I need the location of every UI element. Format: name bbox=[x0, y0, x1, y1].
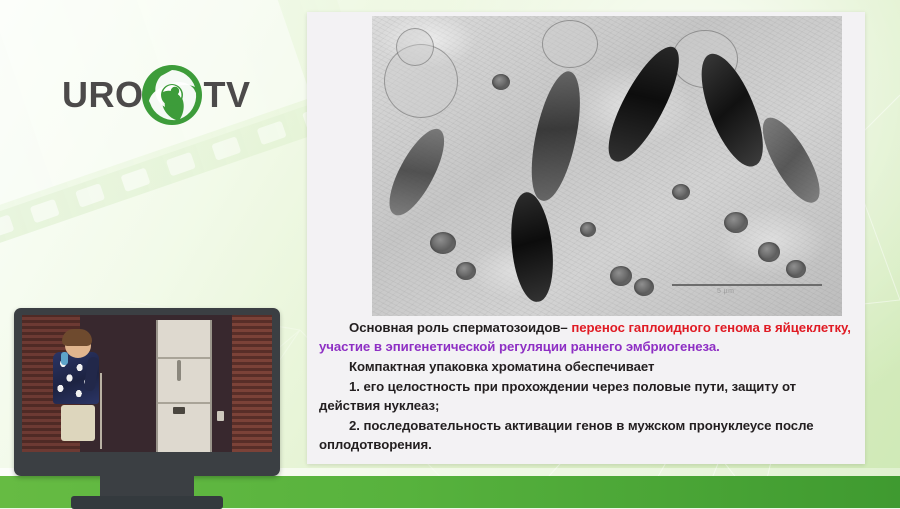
micrograph-vacuole bbox=[396, 28, 434, 66]
slide-paragraph-1: Основная роль сперматозоидов– перенос га… bbox=[319, 318, 853, 356]
slide-text-prefix: Основная роль сперматозоидов– bbox=[349, 320, 571, 335]
micrograph-organelle bbox=[610, 266, 632, 286]
microphone-stand bbox=[100, 373, 102, 450]
slide-paragraph-4: 2. последовательность активации генов в … bbox=[319, 416, 853, 454]
slide-paragraph-2: Компактная упаковка хроматина обеспечива… bbox=[319, 357, 853, 376]
urotv-logo: URO TV bbox=[62, 54, 247, 136]
speaker-legs bbox=[61, 405, 95, 441]
micrograph-vacuole bbox=[542, 20, 598, 68]
slide-text-red: перенос гаплоидного генома в яйцеклетку, bbox=[571, 320, 851, 335]
speaker-hair bbox=[62, 329, 92, 346]
presenter-video[interactable] bbox=[22, 315, 272, 452]
micrograph-organelle bbox=[634, 278, 654, 296]
slide-text-purple: участие в эпигенетической регуляции ранн… bbox=[319, 339, 716, 354]
monitor-neck bbox=[100, 476, 194, 498]
slide-paragraph-3: 1. его целостность при прохождении через… bbox=[319, 377, 853, 415]
slide-panel: 5 µm Основная роль сперматозоидов– перен… bbox=[307, 12, 865, 464]
micrograph-organelle bbox=[456, 262, 476, 280]
video-wall-right bbox=[232, 315, 272, 452]
monitor-base bbox=[71, 496, 223, 509]
micrograph-organelle bbox=[786, 260, 806, 278]
logo-text-tv: TV bbox=[204, 74, 251, 116]
micrograph-scale-bar bbox=[672, 284, 822, 286]
micrograph-organelle bbox=[430, 232, 456, 254]
slide-text-period: . bbox=[716, 339, 720, 354]
logo-text-uro: URO bbox=[62, 74, 144, 116]
micrograph-organelle bbox=[492, 74, 510, 90]
presenter-video-monitor bbox=[14, 308, 280, 476]
electron-micrograph-image: 5 µm bbox=[372, 16, 842, 316]
micrograph-scale-label: 5 µm bbox=[717, 288, 734, 295]
video-wall-switch bbox=[217, 411, 224, 421]
video-wall-mid bbox=[80, 315, 233, 452]
slide-body-text: Основная роль сперматозоидов– перенос га… bbox=[319, 318, 853, 455]
micrograph-organelle bbox=[672, 184, 690, 200]
micrograph-organelle bbox=[724, 212, 748, 233]
micrograph-organelle bbox=[758, 242, 780, 262]
speaker-microphone bbox=[61, 352, 68, 365]
video-door bbox=[156, 320, 212, 452]
micrograph-organelle bbox=[580, 222, 596, 237]
urotv-emblem-icon bbox=[140, 63, 204, 127]
